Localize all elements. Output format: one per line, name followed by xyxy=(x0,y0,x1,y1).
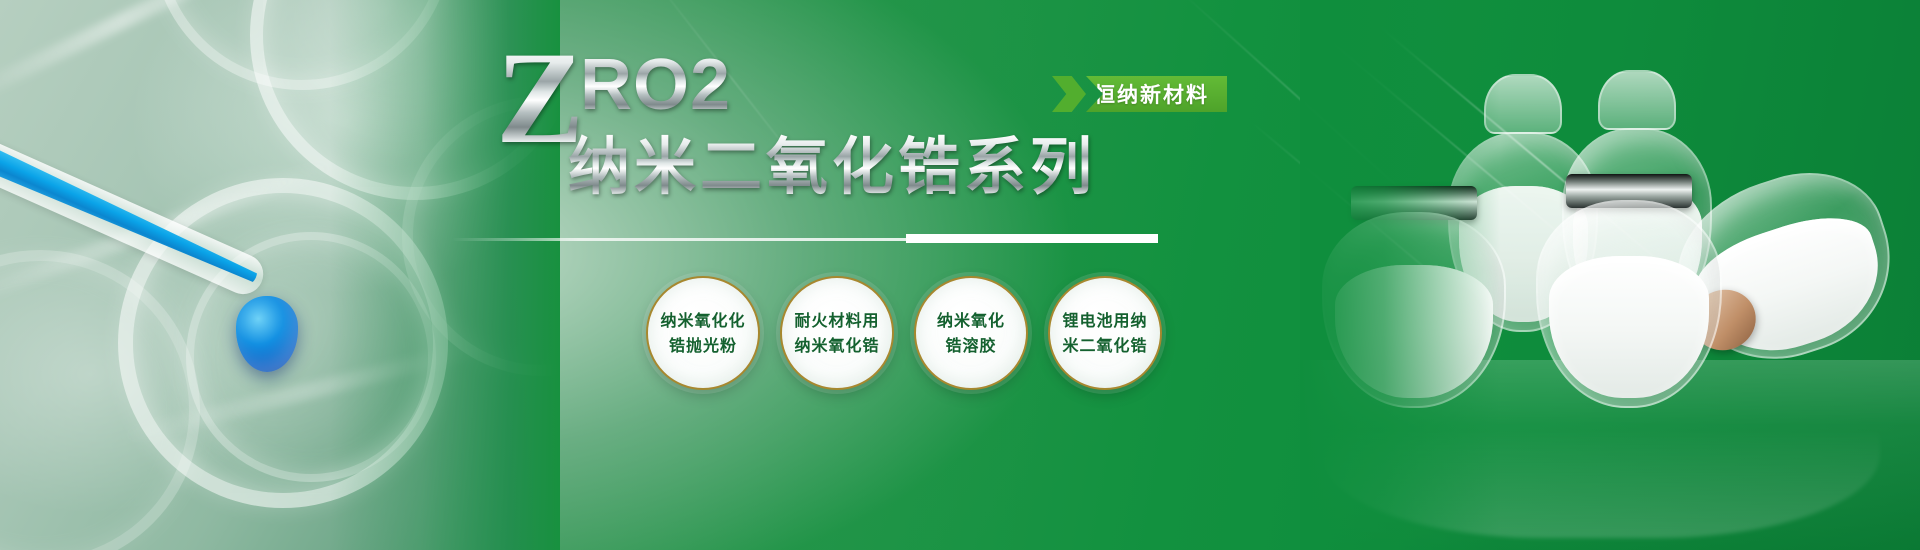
brand-ribbon-label: 恒纳新材料 xyxy=(1094,79,1209,109)
feature-badge-list: 纳米氧化化 锆抛光粉 耐火材料用 纳米氧化锆 纳米氧化 锆溶胶 锂电池用纳 米二… xyxy=(646,276,1162,390)
badge-line-2: 锆抛光粉 xyxy=(669,333,737,358)
glass-stopper-icon xyxy=(1598,70,1676,130)
feature-badge-lithium-battery[interactable]: 锂电池用纳 米二氧化锆 xyxy=(1048,276,1162,390)
badge-line-2: 锆溶胶 xyxy=(945,333,996,358)
badge-line-1: 锂电池用纳 xyxy=(1062,308,1147,333)
photo-edge-fade xyxy=(1300,0,1500,550)
lab-pipette-photo xyxy=(0,0,560,550)
badge-line-2: 米二氧化锆 xyxy=(1062,333,1147,358)
feature-badge-polishing-powder[interactable]: 纳米氧化化 锆抛光粉 xyxy=(646,276,760,390)
badge-line-1: 耐火材料用 xyxy=(794,308,879,333)
feature-badge-refractory[interactable]: 耐火材料用 纳米氧化锆 xyxy=(780,276,894,390)
headline-formula-ro2: RO2 xyxy=(580,50,731,120)
headline-block: Z RO2 纳米二氧化锆系列 xyxy=(496,46,1256,236)
feature-badge-sol[interactable]: 纳米氧化 锆溶胶 xyxy=(914,276,1028,390)
brand-ribbon: 恒纳新材料 xyxy=(1052,76,1227,112)
headline-divider-cap xyxy=(906,234,1158,243)
product-bottles-photo xyxy=(1300,0,1920,550)
headline-letter-z: Z xyxy=(496,46,578,150)
chevron-right-icon xyxy=(1052,76,1086,112)
headline-chinese: 纳米二氧化锆系列 xyxy=(568,134,1096,200)
badge-line-1: 纳米氧化 xyxy=(937,308,1005,333)
badge-line-1: 纳米氧化化 xyxy=(660,308,745,333)
brand-ribbon-body: 恒纳新材料 xyxy=(1086,76,1227,112)
badge-line-2: 纳米氧化锆 xyxy=(794,333,879,358)
glass-bottle-front-right xyxy=(1536,200,1722,408)
product-banner: Z RO2 纳米二氧化锆系列 恒纳新材料 纳米氧化化 锆抛光粉 耐火材料用 纳米… xyxy=(0,0,1920,550)
